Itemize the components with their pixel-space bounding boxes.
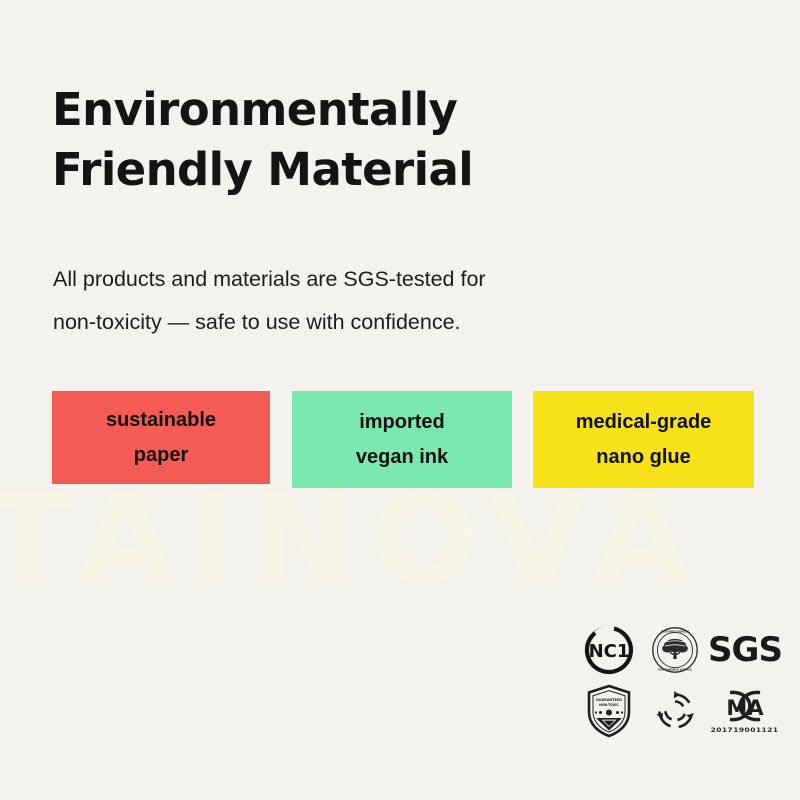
- chip-label-line-2: paper: [134, 438, 188, 472]
- cma-certificate-number: 201719001121: [711, 726, 779, 734]
- cma-certification-icon: MA 201719001121: [714, 688, 776, 734]
- forest-seal-icon: CERTIFIED FOREST SUSTAINABLE SOURCE: [650, 625, 700, 675]
- chip-label-line-1: sustainable: [106, 403, 216, 437]
- certification-badge-group: NC1 CERTI: [576, 620, 782, 748]
- svg-text:CERTIFIED FOREST: CERTIFIED FOREST: [661, 630, 689, 634]
- material-chip-group: sustainable paper imported vegan ink med…: [52, 391, 754, 491]
- chip-label-line-2: nano glue: [596, 440, 690, 474]
- svg-text:SUSTAINABLE SOURCE: SUSTAINABLE SOURCE: [658, 667, 692, 671]
- chip-label-line-1: imported: [359, 405, 445, 439]
- material-chip-sustainable-paper: sustainable paper: [52, 391, 270, 484]
- material-chip-medical-grade-nano-glue: medical-grade nano glue: [533, 391, 754, 488]
- chip-label-line-1: medical-grade: [576, 405, 712, 439]
- sgs-certification-icon: SGS: [708, 633, 782, 667]
- sgs-label: SGS: [708, 630, 782, 670]
- recycle-icon: [650, 686, 700, 736]
- svg-text:NC1: NC1: [589, 641, 630, 662]
- body-line-2: non-toxicity — safe to use with confiden…: [53, 301, 693, 344]
- poster-canvas: TAINOVA Environmentally Friendly Materia…: [0, 0, 800, 800]
- nc1-certification-icon: NC1: [584, 625, 634, 675]
- body-line-1: All products and materials are SGS-teste…: [53, 258, 693, 301]
- headline-line-2: Friendly Material: [52, 140, 752, 199]
- page-title: Environmentally Friendly Material: [52, 80, 752, 199]
- material-chip-imported-vegan-ink: imported vegan ink: [292, 391, 512, 488]
- shield-certification-icon: GUARANTEED NON-TOXIC: [585, 684, 633, 738]
- chip-label-line-2: vegan ink: [356, 440, 448, 474]
- svg-text:MA: MA: [726, 696, 764, 720]
- body-description: All products and materials are SGS-teste…: [53, 258, 693, 344]
- brand-watermark: TAINOVA: [0, 478, 800, 602]
- svg-text:NON-TOXIC: NON-TOXIC: [599, 703, 619, 707]
- headline-line-1: Environmentally: [52, 80, 752, 139]
- svg-text:GUARANTEED: GUARANTEED: [596, 698, 622, 702]
